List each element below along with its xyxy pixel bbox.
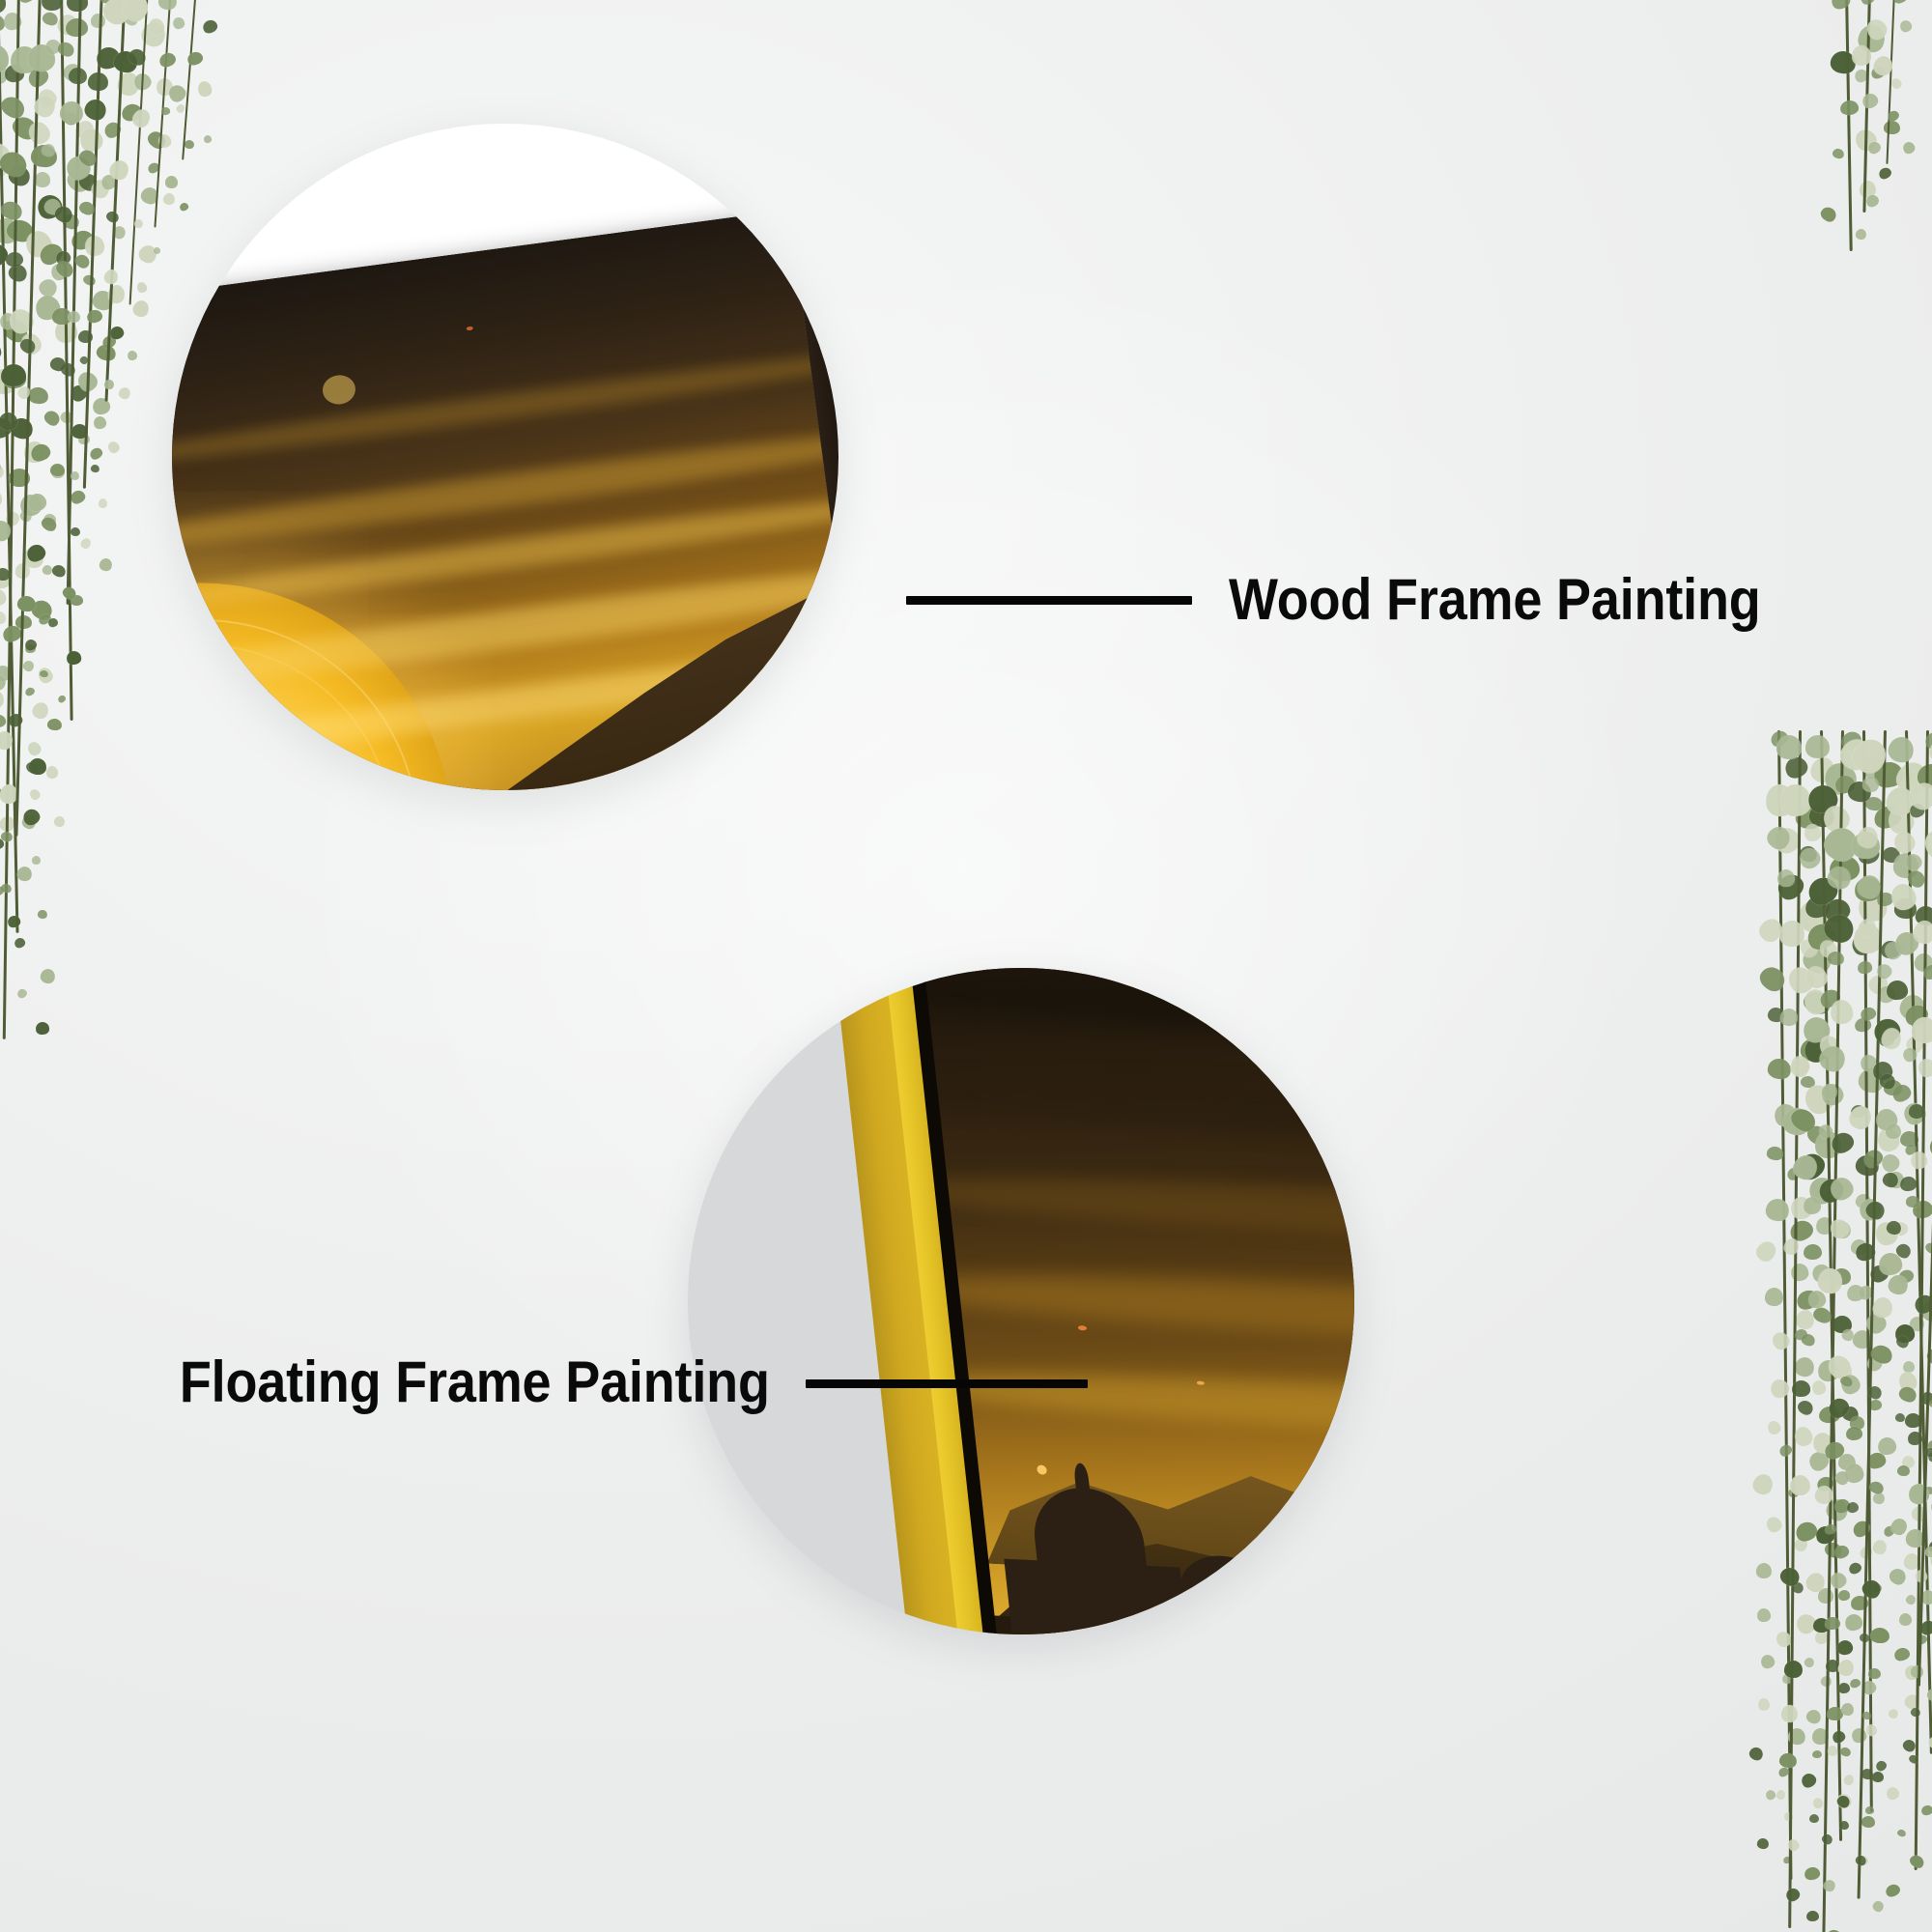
- plant-leaf: [1805, 735, 1831, 759]
- plant-leaf: [1902, 1002, 1931, 1030]
- plant-stem: [1788, 730, 1802, 1928]
- plant-leaf: [1804, 1707, 1823, 1725]
- plant-leaf: [153, 246, 161, 255]
- plant-leaf: [51, 464, 66, 478]
- plant-leaf: [1831, 1220, 1851, 1240]
- plant-leaf: [129, 105, 154, 129]
- plant-leaf: [1813, 1483, 1835, 1506]
- plant-leaf: [91, 396, 112, 416]
- plant-leaf: [39, 669, 48, 678]
- plant-leaf: [1811, 1305, 1830, 1323]
- plant-leaf: [1822, 1878, 1837, 1893]
- plant-leaf: [32, 855, 42, 865]
- plant-leaf: [1854, 1241, 1877, 1263]
- plant-leaf: [79, 536, 93, 550]
- plant-leaf: [1788, 1104, 1820, 1135]
- plant-leaf: [1872, 1491, 1886, 1504]
- plant-leaf: [1900, 1099, 1929, 1128]
- plant-leaf: [1889, 1081, 1914, 1104]
- plant-leaf: [1854, 1153, 1880, 1178]
- plant-leaf: [15, 0, 38, 6]
- plant-leaf: [0, 714, 7, 728]
- plant-leaf: [9, 469, 30, 487]
- plant-leaf: [1874, 1759, 1889, 1774]
- plant-leaf: [1834, 1360, 1852, 1378]
- plant-leaf: [1828, 1570, 1849, 1591]
- plant-leaf: [179, 201, 190, 212]
- plant-leaf: [28, 44, 56, 72]
- plant-leaf: [1755, 962, 1789, 995]
- plant-leaf: [1819, 756, 1861, 799]
- plant-leaf: [90, 14, 105, 29]
- plant-leaf: [1902, 1691, 1921, 1711]
- plant-leaf: [1782, 1856, 1792, 1864]
- plant-leaf: [42, 408, 62, 428]
- plant-leaf: [1893, 1334, 1911, 1351]
- plant-stem: [1777, 730, 1793, 1880]
- plant-leaf: [1877, 1436, 1897, 1457]
- plant-leaf: [1793, 1425, 1814, 1447]
- plant-leaf: [133, 218, 144, 230]
- plant-leaf: [11, 46, 40, 74]
- plant-leaf: [0, 458, 4, 475]
- plant-leaf: [1763, 1196, 1791, 1223]
- plant-leaf: [67, 0, 88, 12]
- plant-leaf: [43, 38, 63, 57]
- plant-leaf: [1861, 1678, 1879, 1696]
- plant-leaf: [127, 349, 138, 360]
- plant-leaf: [1810, 1304, 1833, 1325]
- plant-leaf: [20, 807, 42, 828]
- plant-leaf: [95, 44, 123, 71]
- plant-leaf: [1905, 1413, 1922, 1428]
- plant-leaf: [1793, 1610, 1820, 1637]
- plant-leaf: [1824, 1523, 1837, 1536]
- plant-leaf: [71, 424, 88, 440]
- plant-leaf: [65, 650, 82, 666]
- plant-leaf: [1892, 757, 1932, 799]
- plant-leaf: [1884, 784, 1918, 819]
- plant-leaf: [1806, 1289, 1828, 1310]
- plant-leaf: [6, 163, 33, 189]
- plant-leaf: [1862, 777, 1879, 792]
- plant-leaf: [1901, 1737, 1918, 1753]
- plant-leaf: [0, 367, 18, 396]
- plant-leaf: [53, 814, 68, 829]
- plant-leaf: [1853, 1016, 1872, 1033]
- plant-leaf: [1861, 754, 1886, 780]
- plant-leaf: [60, 60, 84, 84]
- plant-leaf: [1776, 735, 1802, 760]
- plant-leaf: [56, 40, 76, 58]
- plant-leaf: [113, 49, 140, 74]
- plant-leaf: [1894, 1412, 1905, 1422]
- plant-leaf: [1800, 1080, 1838, 1120]
- plant-leaf: [1785, 1165, 1804, 1183]
- plant-leaf: [1902, 1662, 1922, 1683]
- plant-leaf: [1908, 1753, 1919, 1765]
- plant-leaf: [1811, 1431, 1835, 1456]
- plant-leaf: [4, 509, 21, 527]
- plant-leaf: [1803, 1570, 1828, 1595]
- plant-leaf: [0, 728, 14, 752]
- plant-leaf: [1909, 1151, 1927, 1170]
- plant-leaf: [1820, 1833, 1834, 1847]
- plant-leaf: [1838, 728, 1863, 753]
- plant-leaf: [1815, 1130, 1842, 1157]
- plant-leaf: [1798, 844, 1819, 865]
- plant-leaf: [1785, 1837, 1801, 1853]
- plant-leaf: [1819, 822, 1863, 867]
- plant-leaf: [23, 638, 39, 653]
- plant-leaf: [116, 385, 131, 401]
- plant-leaf: [1877, 1030, 1896, 1048]
- plant-leaf: [1823, 1439, 1847, 1462]
- plant-leaf: [1861, 1711, 1872, 1721]
- plant-leaf: [41, 0, 63, 12]
- plant-leaf: [1877, 166, 1892, 182]
- plant-leaf: [1801, 1014, 1833, 1046]
- plant-leaf: [1858, 1855, 1868, 1866]
- plant-leaf: [1842, 1773, 1855, 1786]
- plant-leaf: [77, 200, 97, 217]
- plant-leaf: [35, 171, 50, 186]
- plant-leaf: [1816, 937, 1839, 961]
- plant-leaf: [1819, 802, 1854, 837]
- plant-leaf: [36, 665, 55, 685]
- plant-leaf: [50, 563, 67, 579]
- plant-leaf: [17, 492, 44, 519]
- plant-leaf: [1902, 851, 1925, 874]
- plant-leaf: [1800, 942, 1836, 978]
- plant-leaf: [28, 441, 52, 465]
- plant-leaf: [1789, 1262, 1810, 1283]
- plant-leaf: [1819, 1674, 1833, 1689]
- plant-leaf: [29, 758, 47, 776]
- plant-leaf: [91, 289, 115, 312]
- plant-leaf: [1922, 729, 1932, 753]
- artwork-ember: [1078, 1325, 1088, 1330]
- plant-leaf: [1816, 1122, 1835, 1141]
- plant-stem: [1915, 730, 1929, 1870]
- plant-leaf: [1868, 1668, 1881, 1679]
- plant-leaf: [1807, 753, 1837, 784]
- plant-leaf: [171, 15, 185, 30]
- plant-leaf: [0, 488, 3, 508]
- plant-leaf: [52, 308, 72, 325]
- plant-leaf: [1881, 939, 1905, 963]
- plant-leaf: [1855, 22, 1888, 55]
- plant-leaf: [1861, 1146, 1886, 1170]
- plant-leaf: [1752, 1237, 1779, 1264]
- plant-leaf: [78, 330, 93, 343]
- plant-leaf: [1765, 1419, 1781, 1436]
- plant-leaf: [1856, 1195, 1885, 1224]
- plant-leaf: [1859, 0, 1878, 7]
- plant-leaf: [59, 410, 74, 425]
- plant-leaf: [1896, 1267, 1916, 1285]
- plant-leaf: [79, 355, 90, 365]
- plant-leaf: [69, 228, 96, 252]
- plant-leaf: [1927, 1548, 1932, 1572]
- plant-leaf: [1886, 804, 1917, 836]
- plant-leaf: [1868, 1343, 1894, 1367]
- plant-leaf: [1923, 1240, 1932, 1255]
- plant-leaf: [1926, 1450, 1932, 1463]
- plant-leaf: [1783, 1887, 1801, 1904]
- plant-leaf: [1904, 1033, 1927, 1057]
- plant-leaf: [1872, 1628, 1883, 1638]
- plant-leaf: [1873, 1107, 1899, 1133]
- plant-leaf: [48, 355, 67, 373]
- plant-stem: [1862, 0, 1870, 213]
- plant-leaf: [1845, 1284, 1865, 1303]
- plant-leaf: [0, 148, 32, 182]
- plant-leaf: [1908, 1104, 1924, 1120]
- plant-leaf: [103, 378, 116, 390]
- plant-leaf: [1769, 727, 1792, 750]
- decor-plant-right: [1776, 730, 1932, 1932]
- floating-frame-painting: [823, 968, 1354, 1634]
- plant-stem: [1845, 0, 1853, 251]
- plant-leaf: [1890, 0, 1909, 7]
- plant-leaf: [91, 464, 100, 472]
- plant-leaf: [1856, 890, 1889, 924]
- plant-leaf: [1908, 1315, 1926, 1333]
- plant-leaf: [5, 251, 23, 268]
- plant-leaf: [106, 439, 122, 454]
- plant-leaf: [1819, 1406, 1841, 1424]
- plant-leaf: [1827, 1173, 1858, 1204]
- plant-leaf: [1767, 1377, 1792, 1402]
- plant-leaf: [1925, 1687, 1932, 1703]
- wood-frame-canvas-face: [172, 210, 838, 790]
- plant-leaf: [146, 160, 160, 174]
- plant-leaf: [1861, 1815, 1875, 1828]
- callout-circle-floating-frame: [688, 968, 1354, 1634]
- plant-leaf: [1774, 869, 1808, 904]
- plant-leaf: [1798, 936, 1822, 960]
- plant-leaf: [60, 100, 84, 125]
- plant-leaf: [1896, 1464, 1910, 1476]
- plant-stem: [3, 0, 20, 1039]
- plant-leaf: [104, 209, 121, 224]
- plant-leaf: [1782, 1236, 1802, 1257]
- plant-leaf: [1871, 1295, 1894, 1319]
- plant-leaf: [1815, 1216, 1834, 1236]
- plant-leaf: [1860, 1577, 1885, 1602]
- plant-leaf: [1840, 1327, 1856, 1343]
- plant-leaf: [1, 623, 24, 644]
- plant-leaf: [1815, 1041, 1849, 1075]
- plant-leaf: [37, 240, 67, 269]
- plant-leaf: [31, 92, 59, 121]
- plant-leaf: [1816, 1266, 1844, 1294]
- plant-leaf: [1866, 1384, 1884, 1402]
- plant-stem: [1905, 730, 1932, 1754]
- plant-leaf: [1823, 1495, 1851, 1524]
- plant-leaf: [1846, 1102, 1875, 1132]
- plant-leaf: [70, 526, 80, 537]
- plant-leaf: [1804, 1173, 1840, 1208]
- plant-leaf: [0, 0, 6, 14]
- plant-leaf: [1815, 1175, 1848, 1207]
- plant-leaf: [1844, 1613, 1864, 1634]
- plant-leaf: [1889, 1516, 1911, 1538]
- plant-leaf: [1865, 971, 1892, 998]
- plant-leaf: [1893, 897, 1918, 920]
- plant-leaf: [131, 298, 152, 319]
- plant-leaf: [1776, 1789, 1786, 1801]
- plant-leaf: [1854, 923, 1883, 954]
- plant-leaf: [0, 568, 11, 582]
- plant-leaf: [1880, 1026, 1903, 1051]
- plant-leaf: [1919, 1298, 1932, 1323]
- plant-leaf: [1803, 962, 1831, 991]
- plant-leaf: [109, 325, 126, 340]
- plant-leaf: [1886, 1220, 1903, 1236]
- plant-leaf: [1805, 1911, 1818, 1922]
- plant-leaf: [1874, 961, 1894, 981]
- plant-leaf: [32, 293, 63, 324]
- plant-leaf: [1891, 1219, 1911, 1238]
- plant-leaf: [1800, 1037, 1830, 1063]
- plant-leaf: [1809, 1814, 1819, 1824]
- plant-leaf: [1912, 920, 1932, 946]
- plant-leaf: [1916, 1634, 1928, 1646]
- plant-leaf: [1803, 1656, 1816, 1669]
- plant-leaf: [1782, 753, 1811, 781]
- plant-leaf: [1849, 1104, 1866, 1121]
- plant-leaf: [40, 143, 56, 159]
- plant-leaf: [135, 280, 149, 294]
- plant-leaf: [1912, 1200, 1932, 1220]
- plant-leaf: [1793, 1355, 1816, 1378]
- plant-leaf: [1834, 1791, 1853, 1810]
- plant-leaf: [99, 172, 119, 192]
- plant-leaf: [31, 699, 52, 721]
- plant-leaf: [1870, 1015, 1903, 1046]
- plant-leaf: [1848, 929, 1879, 959]
- plant-leaf: [0, 44, 9, 72]
- plant-leaf: [1907, 1432, 1923, 1446]
- plant-leaf: [1872, 1772, 1884, 1782]
- plant-leaf: [1772, 1102, 1800, 1129]
- plant-leaf: [1920, 961, 1932, 981]
- plant-leaf: [98, 0, 118, 5]
- plant-leaf: [18, 330, 45, 357]
- label-floating-frame-painting: Floating Frame Painting: [180, 1349, 770, 1415]
- plant-leaf: [1765, 782, 1798, 817]
- plant-leaf: [1792, 1535, 1810, 1553]
- plant-leaf: [1885, 1169, 1907, 1191]
- plant-leaf: [1825, 1660, 1838, 1672]
- plant-leaf: [68, 68, 86, 85]
- plant-leaf: [1783, 1811, 1794, 1822]
- plant-leaf: [1790, 1151, 1821, 1183]
- plant-leaf: [55, 12, 80, 38]
- plant-leaf: [1835, 733, 1876, 775]
- plant-leaf: [48, 262, 71, 284]
- plant-leaf: [1804, 1866, 1821, 1882]
- plant-leaf: [70, 594, 83, 606]
- plant-leaf: [28, 386, 50, 406]
- plant-leaf: [1826, 1394, 1853, 1421]
- plant-leaf: [1793, 1149, 1830, 1184]
- plant-leaf: [1799, 1771, 1819, 1790]
- plant-leaf: [30, 145, 57, 169]
- plant-leaf: [0, 672, 8, 692]
- plant-leaf: [87, 71, 108, 91]
- plant-leaf: [1869, 1628, 1889, 1644]
- plant-leaf: [1861, 1768, 1874, 1780]
- plant-leaf: [102, 268, 120, 286]
- plant-leaf: [76, 147, 99, 169]
- plant-leaf: [1908, 802, 1926, 820]
- plant-leaf: [204, 134, 213, 144]
- plant-leaf: [1898, 1612, 1912, 1626]
- plant-stem: [1858, 730, 1888, 1899]
- plant-leaf: [1794, 1328, 1809, 1342]
- infographic-canvas: Wood Frame Painting Floating Frame Paint…: [0, 0, 1932, 1932]
- plant-leaf: [1850, 1518, 1873, 1540]
- plant-leaf: [1825, 1616, 1841, 1631]
- plant-leaf: [72, 252, 91, 270]
- plant-leaf: [1863, 16, 1890, 44]
- plant-stem: [1820, 730, 1842, 1841]
- plant-leaf: [1804, 1122, 1831, 1148]
- plant-leaf: [0, 786, 1, 797]
- plant-leaf: [1900, 1130, 1918, 1146]
- plant-leaf: [13, 936, 27, 950]
- plant-leaf: [1833, 1544, 1851, 1561]
- plant-leaf: [1886, 980, 1908, 1001]
- plant-leaf: [1766, 1146, 1784, 1161]
- plant-leaf: [1886, 734, 1917, 765]
- plant-leaf: [1777, 1766, 1791, 1778]
- plant-leaf: [1921, 1391, 1932, 1404]
- plant-leaf: [100, 333, 118, 351]
- plant-leaf: [61, 584, 78, 601]
- plant-leaf: [0, 666, 11, 681]
- plant-leaf: [0, 518, 14, 545]
- plant-stem: [67, 0, 82, 605]
- plant-stem: [1822, 730, 1844, 1932]
- plant-leaf: [1813, 1618, 1831, 1634]
- plant-leaf: [1756, 1838, 1769, 1850]
- plant-leaf: [1829, 855, 1860, 881]
- plant-leaf: [1805, 782, 1840, 815]
- plant-leaf: [1846, 780, 1873, 805]
- plant-leaf: [1884, 1882, 1902, 1899]
- plant-leaf: [1868, 1399, 1883, 1412]
- plant-leaf: [1804, 873, 1842, 909]
- plant-leaf: [1794, 804, 1823, 830]
- plant-leaf: [175, 102, 186, 114]
- plant-leaf: [81, 273, 97, 288]
- plant-leaf: [1926, 1734, 1932, 1750]
- plant-leaf: [6, 262, 29, 284]
- plant-leaf: [1821, 1082, 1839, 1100]
- plant-leaf: [1847, 733, 1891, 779]
- plant-leaf: [68, 382, 90, 404]
- plant-leaf: [1796, 844, 1823, 871]
- plant-leaf: [74, 368, 100, 394]
- plant-leaf: [24, 644, 35, 654]
- plant-leaf: [33, 0, 53, 3]
- plant-leaf: [1899, 1176, 1918, 1192]
- plant-leaf: [1851, 1239, 1868, 1256]
